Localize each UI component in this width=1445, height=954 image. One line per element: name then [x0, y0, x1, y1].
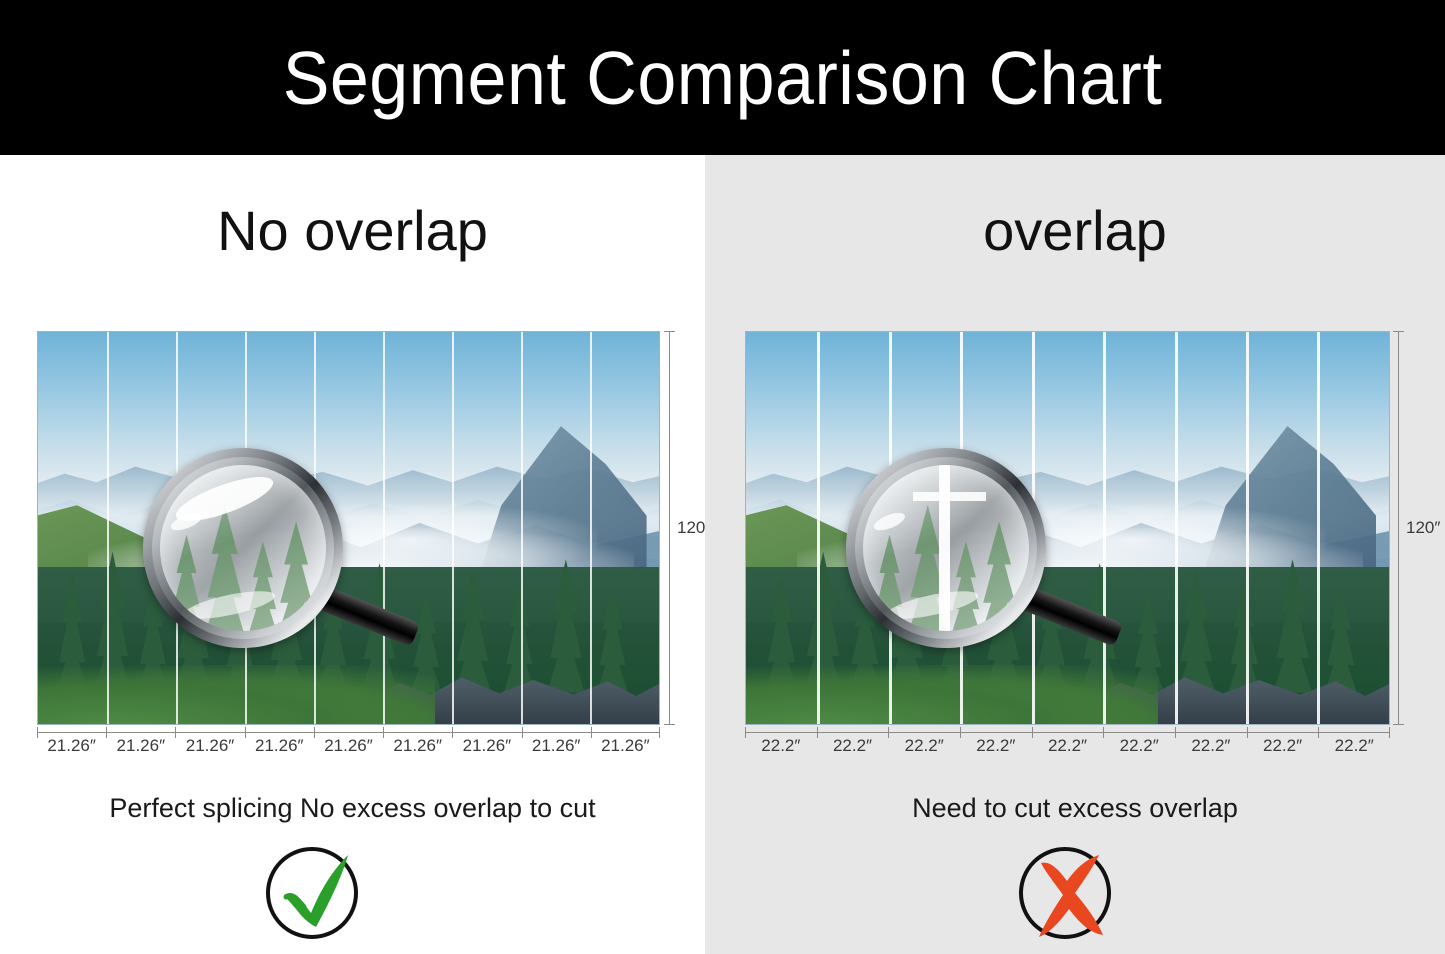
segment-label: 21.26″: [314, 736, 383, 756]
magnifier-lens: [160, 465, 326, 631]
segment-label: 21.26″: [175, 736, 244, 756]
panel-heading-overlap: overlap: [705, 203, 1445, 259]
cross-icon: [1015, 843, 1123, 951]
segment-label: 22.2″: [817, 736, 889, 756]
segment-label: 21.26″: [245, 736, 314, 756]
segment-labels-right: 22.2″ 22.2″ 22.2″ 22.2″ 22.2″ 22.2″ 22.2…: [745, 736, 1390, 756]
magnifier-lens: [863, 465, 1029, 631]
title-banner: Segment Comparison Chart: [0, 0, 1445, 155]
segment-seams-right: [746, 332, 1389, 724]
segment-label: 22.2″: [1103, 736, 1175, 756]
segment-label: 21.26″: [452, 736, 521, 756]
segment-dimension-left: 21.26″ 21.26″ 21.26″ 21.26″ 21.26″ 21.26…: [37, 732, 660, 754]
magnifier-ring: [143, 448, 343, 648]
segment-label: 22.2″: [1318, 736, 1390, 756]
mural-overlap: [745, 331, 1390, 725]
overlap-seam-cross: [913, 492, 986, 501]
panel-no-overlap: No overlap: [0, 155, 705, 954]
magnifier-ring: [846, 448, 1046, 648]
segment-label: 21.26″: [383, 736, 452, 756]
check-icon: [262, 843, 370, 951]
segment-label: 21.26″: [591, 736, 660, 756]
page-title: Segment Comparison Chart: [283, 40, 1163, 116]
segment-label: 21.26″: [106, 736, 175, 756]
segment-label: 22.2″: [888, 736, 960, 756]
caption-no-overlap: Perfect splicing No excess overlap to cu…: [0, 795, 723, 822]
check-mark-glyph: [262, 843, 370, 951]
mural-image-left: [37, 331, 660, 725]
segment-label: 21.26″: [522, 736, 591, 756]
segment-label: 22.2″: [1247, 736, 1319, 756]
comparison-chart-page: Segment Comparison Chart No overlap: [0, 0, 1445, 954]
segment-label: 22.2″: [1032, 736, 1104, 756]
segment-label: 22.2″: [745, 736, 817, 756]
segment-dimension-right: 22.2″ 22.2″ 22.2″ 22.2″ 22.2″ 22.2″ 22.2…: [745, 732, 1390, 754]
height-dimension-left: 120″: [663, 331, 687, 725]
segment-labels-left: 21.26″ 21.26″ 21.26″ 21.26″ 21.26″ 21.26…: [37, 736, 660, 756]
height-label-right: 120″: [1406, 518, 1440, 538]
caption-overlap: Need to cut excess overlap: [705, 795, 1445, 822]
mural-no-overlap: [37, 331, 660, 725]
segment-label: 22.2″: [1175, 736, 1247, 756]
cross-mark-glyph: [1015, 843, 1123, 951]
panel-overlap: overlap: [705, 155, 1445, 954]
segment-label: 21.26″: [37, 736, 106, 756]
mural-image-right: [745, 331, 1390, 725]
segment-label: 22.2″: [960, 736, 1032, 756]
segment-seams-left: [38, 332, 659, 724]
height-dimension-right: 120″: [1392, 331, 1416, 725]
